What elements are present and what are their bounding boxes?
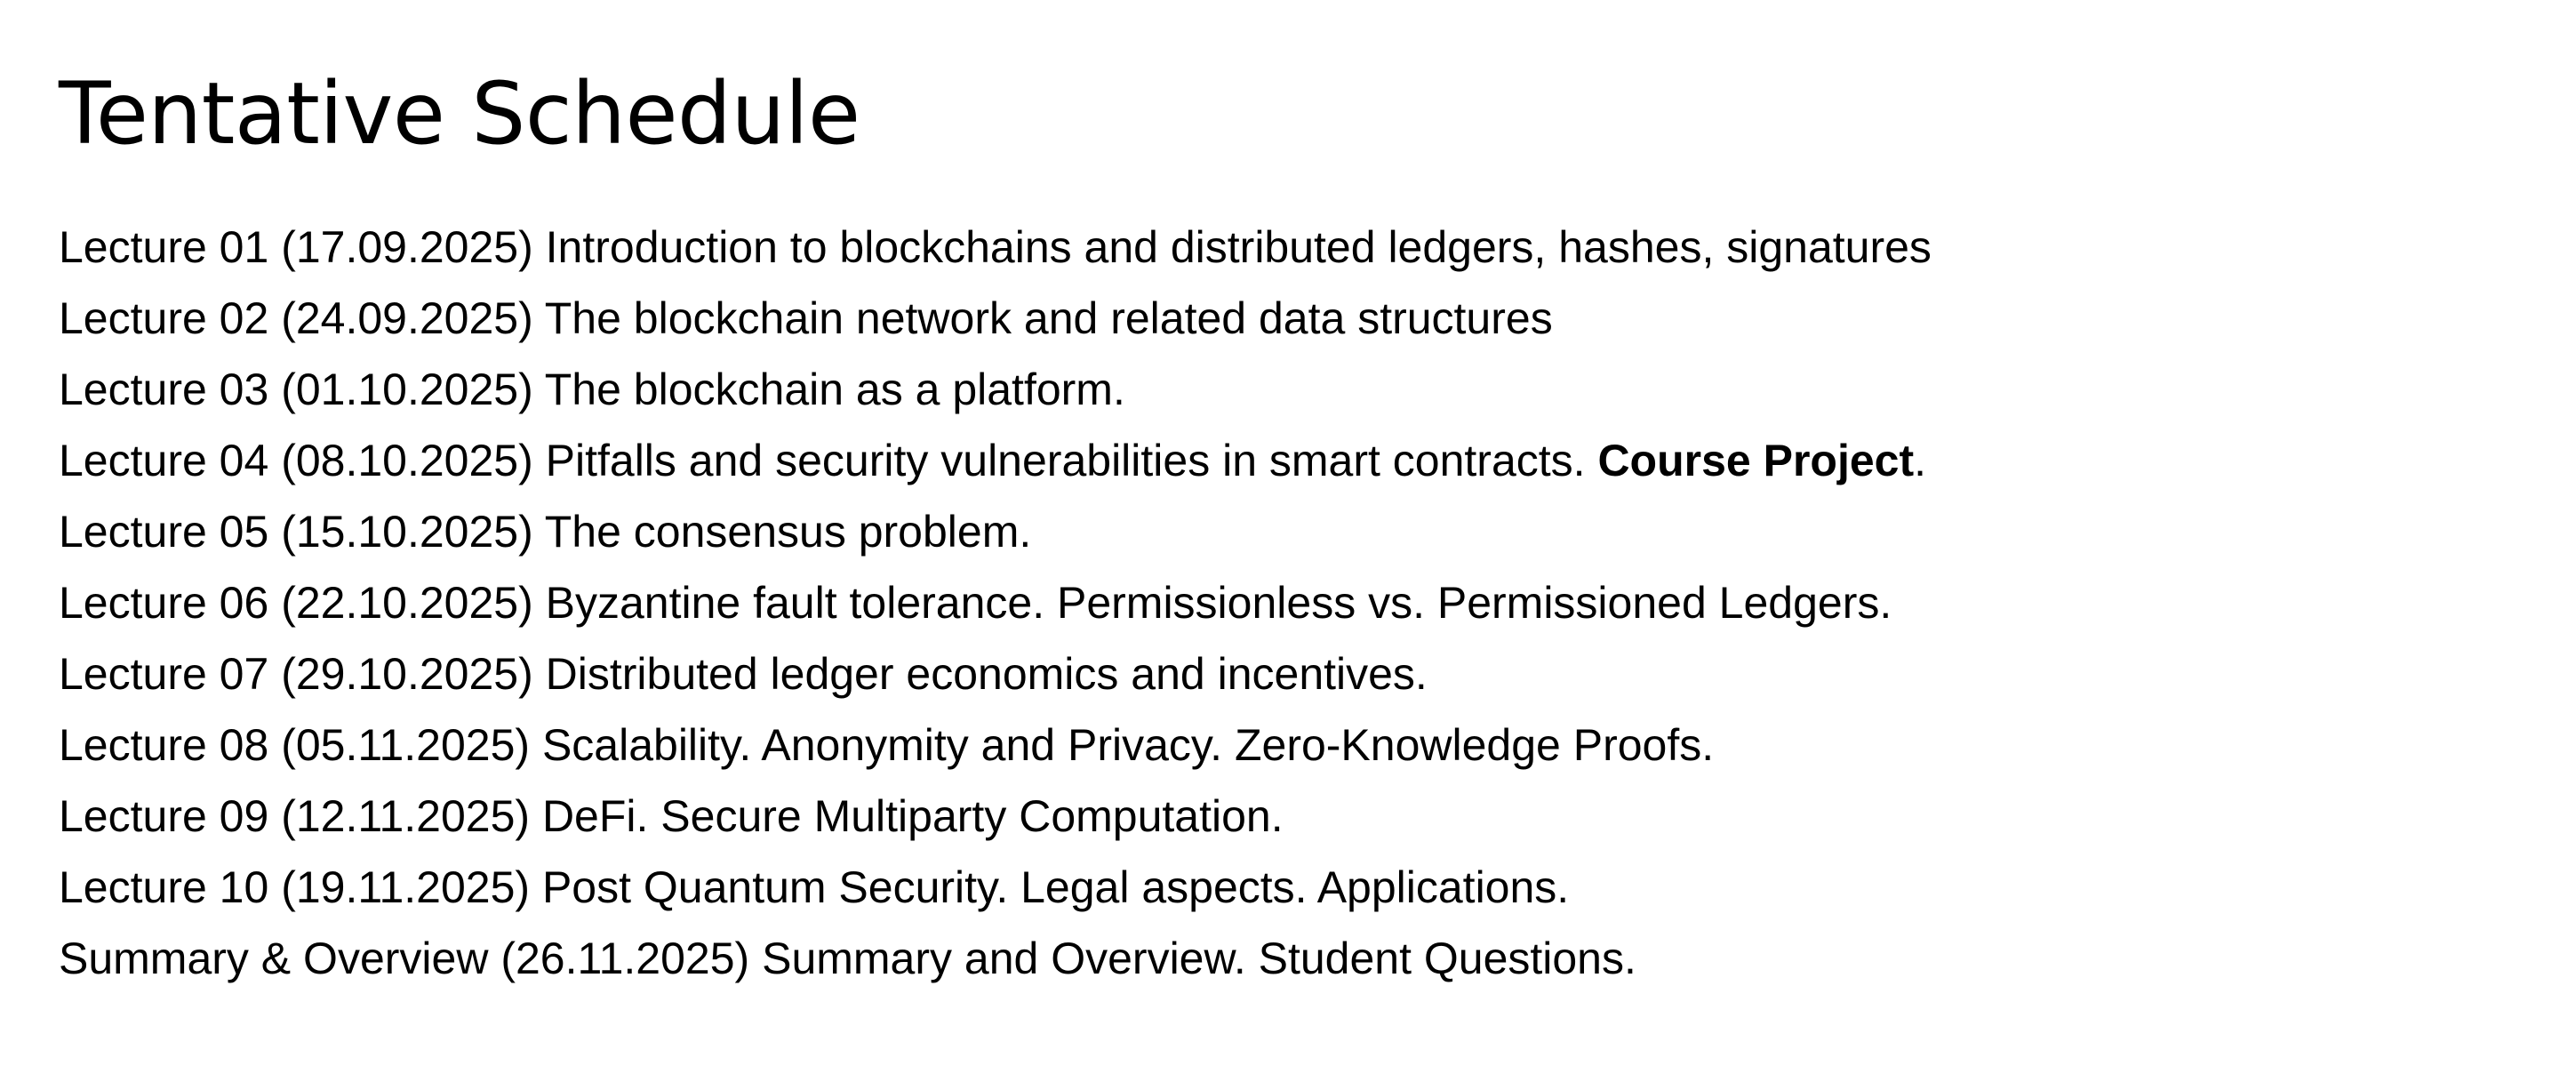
lecture-date: (19.11.2025) <box>281 862 530 912</box>
schedule-row: Lecture 05 (15.10.2025) The consensus pr… <box>59 496 2539 567</box>
schedule-row: Lecture 07 (29.10.2025) Distributed ledg… <box>59 638 2539 709</box>
lecture-label: Lecture 03 <box>59 365 268 414</box>
lecture-topic: Scalability. Anonymity and Privacy. Zero… <box>542 720 1714 770</box>
lecture-topic: DeFi. Secure Multiparty Computation. <box>542 791 1284 841</box>
lecture-label: Lecture 04 <box>59 436 268 485</box>
lecture-topic: Pitfalls and security vulnerabilities in… <box>546 436 1598 485</box>
page-title: Tentative Schedule <box>59 64 860 164</box>
lecture-topic: The consensus problem. <box>545 507 1032 557</box>
lecture-label: Lecture 05 <box>59 507 268 557</box>
lecture-date: (29.10.2025) <box>281 649 533 699</box>
lecture-topic: The blockchain network and related data … <box>545 293 1553 343</box>
lecture-date: (17.09.2025) <box>281 222 533 272</box>
lecture-topic: Post Quantum Security. Legal aspects. Ap… <box>542 862 1569 912</box>
lecture-date: (26.11.2025) <box>500 934 749 983</box>
lecture-label: Lecture 10 <box>59 862 268 912</box>
lecture-topic: Distributed ledger economics and incenti… <box>546 649 1428 699</box>
lecture-topic: Summary and Overview. Student Questions. <box>762 934 1636 983</box>
schedule-row: Lecture 08 (05.11.2025) Scalability. Ano… <box>59 709 2539 781</box>
lecture-topic: Introduction to blockchains and distribu… <box>546 222 1932 272</box>
topic-emphasis: Course Project <box>1597 436 1914 485</box>
lecture-date: (12.11.2025) <box>281 791 530 841</box>
lecture-date: (24.09.2025) <box>281 293 533 343</box>
lecture-date: (05.11.2025) <box>281 720 530 770</box>
lecture-label: Lecture 01 <box>59 222 268 272</box>
lecture-label: Lecture 02 <box>59 293 268 343</box>
schedule-row: Lecture 04 (08.10.2025) Pitfalls and sec… <box>59 425 2539 496</box>
lecture-label: Lecture 09 <box>59 791 268 841</box>
lecture-topic-tail: . <box>1914 436 1926 485</box>
lecture-label: Lecture 07 <box>59 649 268 699</box>
lecture-label: Lecture 08 <box>59 720 268 770</box>
lecture-date: (22.10.2025) <box>281 578 533 628</box>
slide-canvas: Tentative Schedule Lecture 01 (17.09.202… <box>0 0 2576 1090</box>
lecture-label: Lecture 06 <box>59 578 268 628</box>
lecture-topic: Byzantine fault tolerance. Permissionles… <box>546 578 1892 628</box>
lecture-date: (15.10.2025) <box>281 507 533 557</box>
schedule-row: Lecture 01 (17.09.2025) Introduction to … <box>59 212 2539 283</box>
schedule-row: Lecture 03 (01.10.2025) The blockchain a… <box>59 354 2539 425</box>
schedule-list: Lecture 01 (17.09.2025) Introduction to … <box>59 212 2539 994</box>
schedule-row: Summary & Overview (26.11.2025) Summary … <box>59 923 2539 994</box>
schedule-row: Lecture 10 (19.11.2025) Post Quantum Sec… <box>59 852 2539 923</box>
schedule-row: Lecture 02 (24.09.2025) The blockchain n… <box>59 283 2539 354</box>
schedule-row: Lecture 09 (12.11.2025) DeFi. Secure Mul… <box>59 781 2539 852</box>
lecture-label: Summary & Overview <box>59 934 488 983</box>
lecture-date: (01.10.2025) <box>281 365 533 414</box>
lecture-topic: The blockchain as a platform. <box>545 365 1125 414</box>
schedule-row: Lecture 06 (22.10.2025) Byzantine fault … <box>59 567 2539 638</box>
lecture-date: (08.10.2025) <box>281 436 533 485</box>
